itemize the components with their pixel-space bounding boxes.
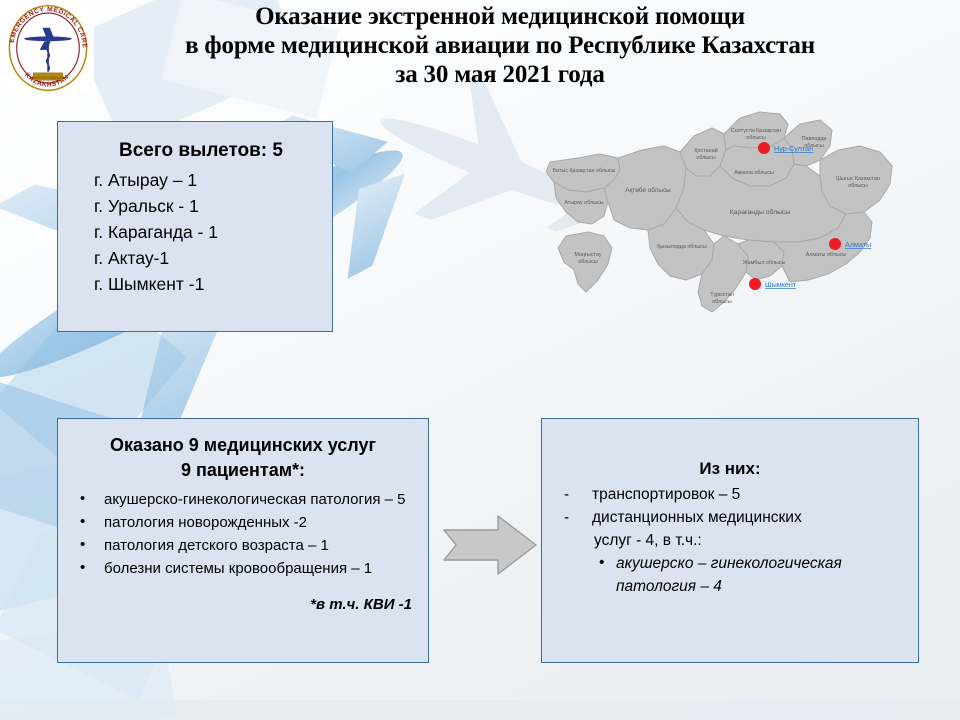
breakdown-box: Из них: транспортировок – 5 дистанционны… bbox=[541, 418, 919, 663]
region-label: Батыс Қазақстан облысы bbox=[553, 168, 616, 174]
total-flights-header: Всего вылетов: 5 bbox=[72, 140, 318, 162]
city-marker-almaty[interactable]: Алматы bbox=[829, 238, 871, 250]
list-item: г. Атырау – 1 bbox=[94, 167, 318, 193]
list-item: патология новорожденных -2 bbox=[68, 512, 418, 534]
city-label: Нур-Султан bbox=[774, 144, 813, 153]
breakdown-header: Из них: bbox=[554, 459, 906, 479]
region-label: Қызылорда облысы bbox=[657, 244, 707, 250]
svg-text:ҚАЗАҚСТАН МЕДИЦИНА: ҚАЗАҚСТАН МЕДИЦИНА bbox=[30, 75, 68, 79]
list-item: акушерско-гинекологическая патология – 5 bbox=[68, 489, 418, 511]
sub-list-item: акушерско – гинекологическая bbox=[554, 552, 906, 575]
sub-list-item-continuation: патология – 4 bbox=[554, 575, 906, 598]
list-item: болезни системы кровообращения – 1 bbox=[68, 558, 418, 580]
list-item-continuation: услуг - 4, в т.ч.: bbox=[554, 529, 906, 552]
flights-city-list: г. Атырау – 1 г. Уральск - 1 г. Караганд… bbox=[72, 167, 318, 297]
breakdown-list: транспортировок – 5 дистанционных медици… bbox=[554, 483, 906, 598]
title-line-2: в форме медицинской авиации по Республик… bbox=[120, 31, 880, 60]
services-header-line-2: 9 пациентам*: bbox=[68, 458, 418, 483]
city-label: Алматы bbox=[845, 240, 871, 249]
services-list: акушерско-гинекологическая патология – 5… bbox=[68, 489, 418, 580]
title-line-1: Оказание экстренной медицинской помощи bbox=[120, 2, 880, 31]
city-marker-shymkent[interactable]: Шымкент bbox=[749, 278, 797, 290]
slide-canvas: EMERGENCY MEDICAL CARE OF KAZAKHSTAN ҚАЗ… bbox=[0, 0, 960, 720]
right-arrow-icon bbox=[440, 512, 540, 578]
services-header-line-1: Оказано 9 медицинских услуг bbox=[110, 435, 376, 455]
title-line-3: за 30 мая 2021 года bbox=[120, 60, 880, 89]
region-label: Атырау облысы bbox=[564, 200, 604, 206]
page-title: Оказание экстренной медицинской помощи в… bbox=[120, 2, 880, 89]
background-band bbox=[0, 700, 960, 720]
kazakhstan-map: Батыс Қазақстан облысы Атырау облысы Маң… bbox=[508, 96, 948, 336]
region-label: Ақтөбе облысы bbox=[625, 186, 671, 194]
list-item: патология детского возраста – 1 bbox=[68, 535, 418, 557]
list-item: г. Шымкент -1 bbox=[94, 271, 318, 297]
list-item: дистанционных медицинских bbox=[554, 506, 906, 529]
region-label-mangystau-1: Маңғыстау bbox=[574, 252, 601, 258]
list-item: г. Уральск - 1 bbox=[94, 193, 318, 219]
total-flights-box: Всего вылетов: 5 г. Атырау – 1 г. Уральс… bbox=[57, 121, 333, 332]
list-item: транспортировок – 5 bbox=[554, 483, 906, 506]
region-label: Жамбыл облысы bbox=[743, 260, 786, 266]
emergency-medical-care-of-kazakhstan-logo: EMERGENCY MEDICAL CARE OF KAZAKHSTAN ҚАЗ… bbox=[2, 2, 94, 94]
city-marker-nur-sultan[interactable]: Нур-Султан bbox=[758, 142, 813, 154]
services-provided-box: Оказано 9 медицинских услуг 9 пациентам*… bbox=[57, 418, 429, 663]
services-footnote: *в т.ч. КВИ -1 bbox=[68, 596, 418, 613]
list-item: г. Актау-1 bbox=[94, 245, 318, 271]
region-label: Түркістаноблысы bbox=[710, 292, 734, 305]
region-label: Ақмола облысы bbox=[734, 170, 774, 176]
region-label: Қарағанды облысы bbox=[730, 208, 791, 216]
list-item: г. Караганда - 1 bbox=[94, 219, 318, 245]
region-label: Алматы облысы bbox=[806, 252, 847, 258]
city-label: Шымкент bbox=[765, 280, 797, 289]
services-header: Оказано 9 медицинских услуг 9 пациентам*… bbox=[68, 433, 418, 483]
